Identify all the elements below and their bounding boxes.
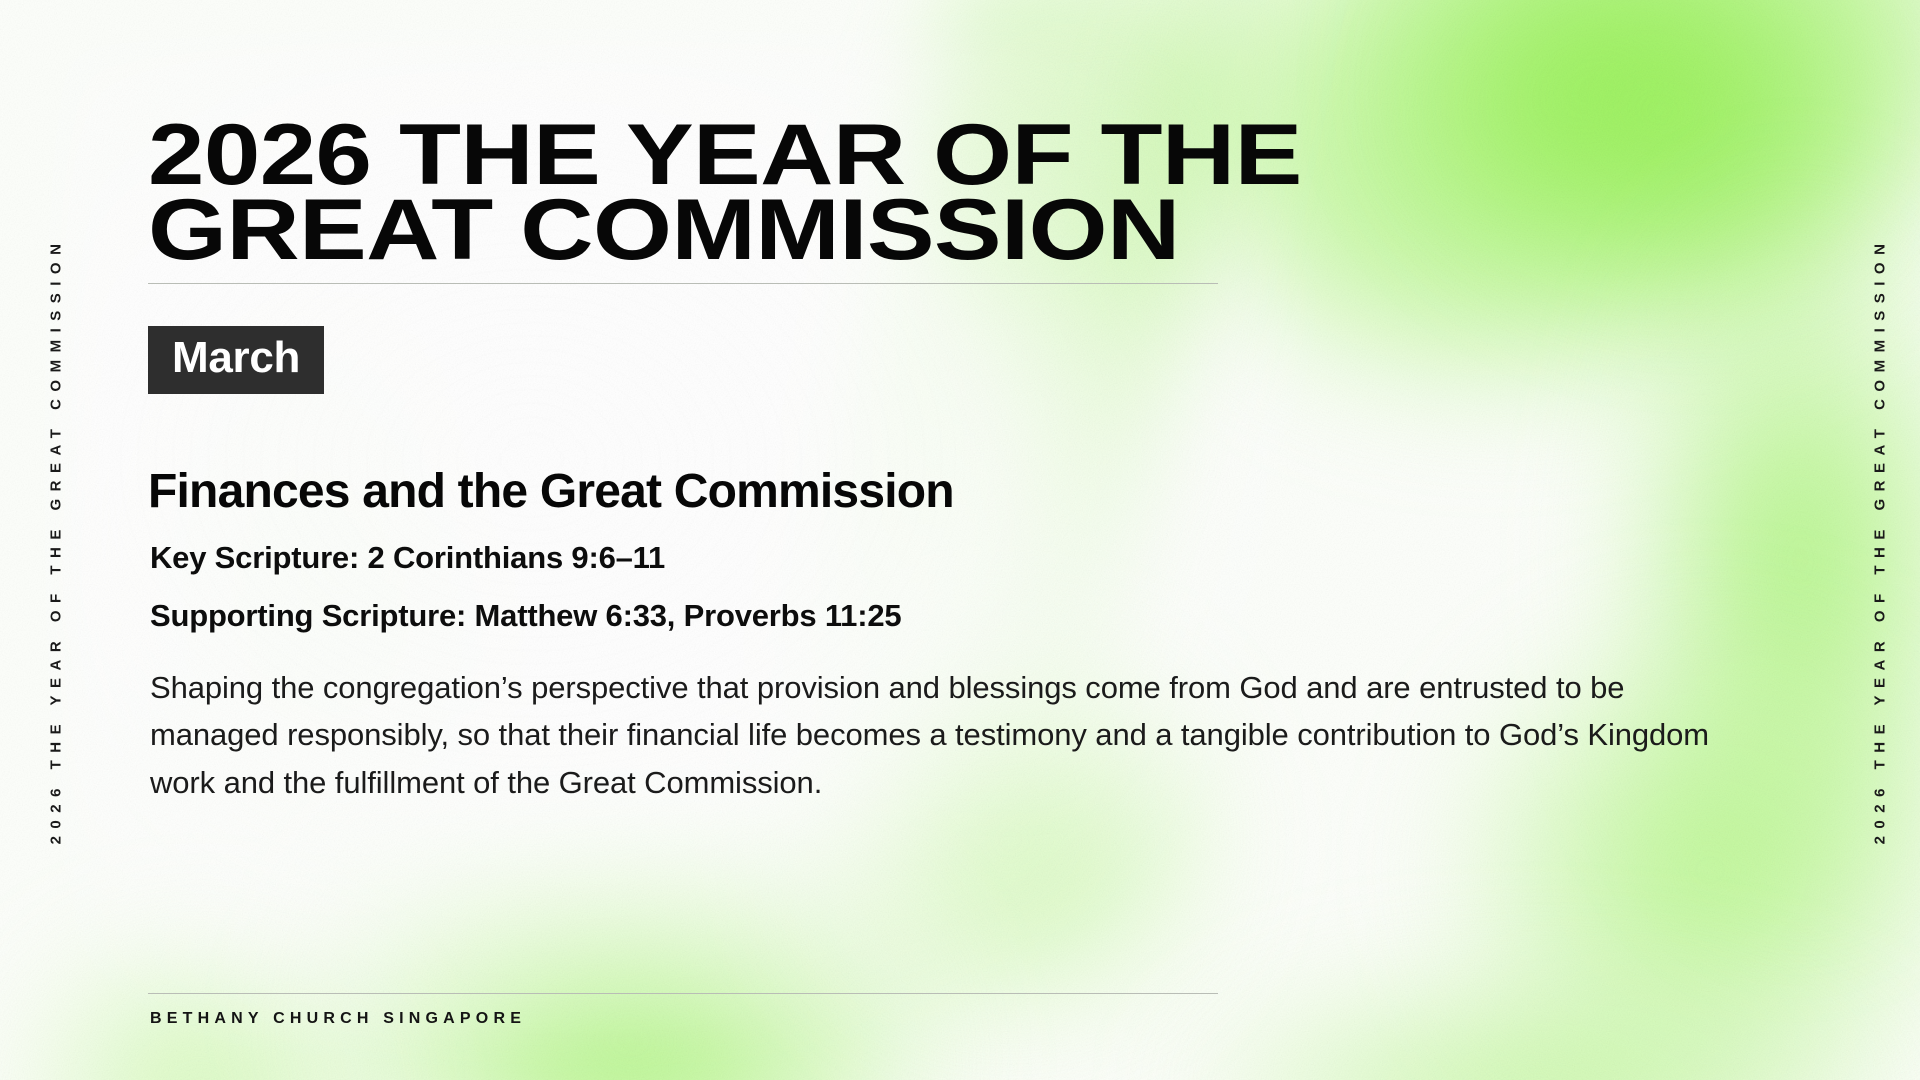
key-scripture-line: Key Scripture: 2 Corinthians 9:6–11 bbox=[150, 539, 1450, 576]
footer-organization: BETHANY CHURCH SINGAPORE bbox=[150, 1010, 526, 1028]
divider-bottom bbox=[148, 993, 1218, 994]
divider-top bbox=[148, 283, 1218, 284]
side-rail-left-text: 2026 THE YEAR OF THE GREAT COMMISSION bbox=[48, 236, 65, 844]
supporting-scripture-line: Supporting Scripture: Matthew 6:33, Prov… bbox=[150, 597, 1450, 634]
side-rail-right-text: 2026 THE YEAR OF THE GREAT COMMISSION bbox=[1872, 236, 1889, 844]
section-headline: Finances and the Great Commission bbox=[148, 467, 1448, 518]
side-rail-left: 2026 THE YEAR OF THE GREAT COMMISSION bbox=[24, 0, 88, 1080]
body-paragraph: Shaping the congregation’s perspective t… bbox=[150, 664, 1750, 806]
poster-canvas: 2026 THE YEAR OF THE GREAT COMMISSION 20… bbox=[0, 0, 1920, 1080]
content-column: 2026 THE YEAR OF THE GREAT COMMISSION Ma… bbox=[148, 0, 1648, 1080]
page-title: 2026 THE YEAR OF THE GREAT COMMISSION bbox=[148, 118, 1920, 269]
month-badge: March bbox=[148, 326, 324, 394]
